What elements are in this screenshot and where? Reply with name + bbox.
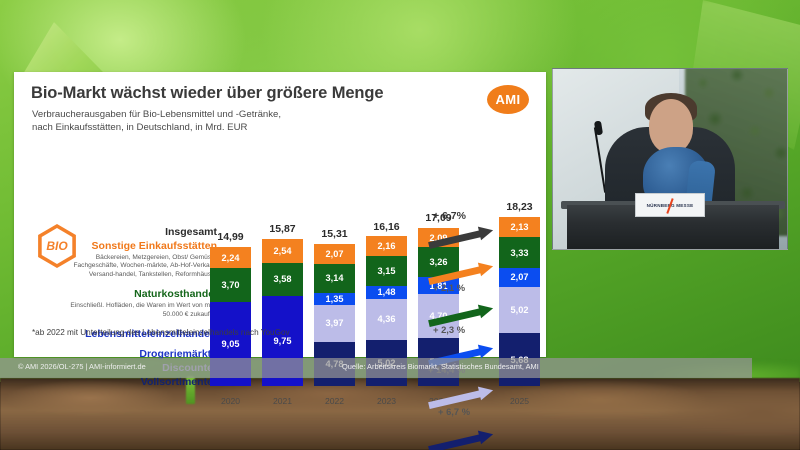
x-axis-label-2021: 2021	[262, 396, 303, 406]
presentation-slide: Bio-Markt wächst wieder über größere Men…	[14, 72, 546, 357]
arrow-head-icon	[478, 383, 495, 400]
bar-total-label-2020: 14,99	[210, 231, 251, 243]
arrow-shaft-icon	[428, 230, 484, 249]
arrow-head-icon	[478, 223, 495, 240]
bar-segment-2022-sonstige-einkaufsst-tten: 2,07	[314, 244, 355, 263]
bar-segment-2020-sonstige-einkaufsst-tten: 2,24	[210, 247, 251, 268]
chart-footnote: *ab 2022 mit Unterteilung des Lebensmitt…	[32, 328, 290, 337]
bar-segment-2023-naturkosthandel: 3,15	[366, 256, 407, 285]
speaker-video-panel[interactable]: NÜRNBERG MESSE	[552, 68, 788, 250]
legend-note-sonstige: Bäckereien, Metzgereien, Obst/ Gemüse-Fa…	[54, 254, 217, 279]
legend-total-label: Insgesamt	[54, 225, 217, 239]
ami-logo: AMI	[487, 85, 529, 114]
x-axis-label-2022: 2022	[314, 396, 355, 406]
bar-total-label-2021: 15,87	[262, 223, 303, 235]
bar-segment-2023-sonstige-einkaufsst-tten: 2,16	[366, 236, 407, 256]
slide-subtitle-line2: nach Einkaufsstätten, in Deutschland, in…	[32, 122, 281, 135]
arrow-head-icon	[478, 259, 495, 276]
growth-label-sonstige-einkaufsst-tten: + 2,1 %	[433, 282, 465, 293]
legend-item-sonstige: Sonstige Einkaufsstätten	[54, 239, 217, 253]
speaker-head	[649, 99, 693, 153]
arrow-head-icon	[478, 341, 495, 358]
bar-total-label-2022: 15,31	[314, 228, 355, 240]
growth-arrow-group: + 6,7%+ 2,1 %+ 2,3 %+ 14,4 %+ 6,7 %+ 8,6…	[428, 208, 528, 408]
bar-segment-2023-discounter: 4,36	[366, 299, 407, 339]
growth-label-naturkosthandel: + 2,3 %	[433, 324, 465, 335]
growth-label-discounter: + 6,7 %	[438, 406, 470, 417]
bar-segment-2023-drogeriem-rkte: 1,48	[366, 286, 407, 300]
slide-subtitle: Verbraucherausgaben für Bio-Lebensmittel…	[32, 109, 281, 134]
legend-item-naturkosthandel: Naturkosthandel	[54, 287, 217, 301]
copyright-text: © AMI 2026/OL-275 | AMI-informiert.de	[18, 362, 146, 371]
x-axis-label-2023: 2023	[366, 396, 407, 406]
bar-segment-2021-sonstige-einkaufsst-tten: 2,54	[262, 239, 303, 262]
screenshot-stage: Bio-Markt wächst wieder über größere Men…	[0, 0, 800, 450]
podium-sign: NÜRNBERG MESSE	[635, 193, 705, 217]
growth-arrow-insgesamt	[427, 222, 501, 253]
slide-subtitle-line1: Verbraucherausgaben für Bio-Lebensmittel…	[32, 109, 281, 122]
podium: NÜRNBERG MESSE	[567, 205, 779, 249]
bar-segment-2022-naturkosthandel: 3,14	[314, 264, 355, 293]
bar-segment-2022-drogeriem-rkte: 1,35	[314, 293, 355, 305]
bar-segment-2020-naturkosthandel: 3,70	[210, 268, 251, 302]
bar-total-label-2023: 16,16	[366, 221, 407, 233]
legend-note-naturkosthandel: Einschließl. Hofläden, die Waren im Wert…	[54, 302, 217, 319]
arrow-head-icon	[478, 427, 495, 444]
source-text: Quelle: Arbeitskreis Biomarkt, Statistis…	[342, 362, 539, 371]
arrow-head-icon	[478, 301, 495, 318]
slide-title: Bio-Markt wächst wieder über größere Men…	[31, 84, 383, 103]
bar-segment-2021-naturkosthandel: 3,58	[262, 263, 303, 296]
x-axis-label-2020: 2020	[210, 396, 251, 406]
bar-segment-2022-discounter: 3,97	[314, 305, 355, 342]
source-bar: © AMI 2026/OL-275 | AMI-informiert.de Qu…	[0, 358, 752, 378]
growth-label-insgesamt: + 6,7%	[433, 210, 466, 222]
